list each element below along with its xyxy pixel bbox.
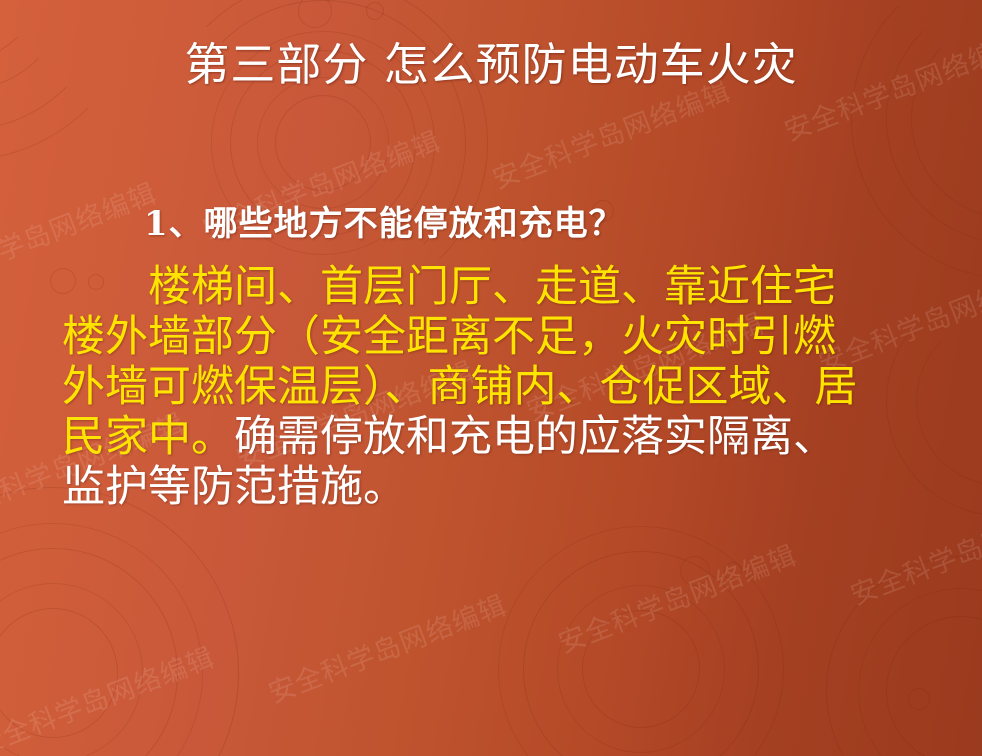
decorative-circle [908, 688, 930, 710]
ring [257, 77, 389, 209]
decorative-ring-cluster-top-center [322, 142, 323, 143]
watermark: 安全科学岛网络编辑 [0, 636, 219, 756]
ring [0, 487, 239, 756]
watermark: 安全科学岛网络编辑 [262, 584, 511, 711]
watermark: 安全科学岛网络编辑 [844, 486, 982, 613]
decorative-ring-cluster-bottom-left [52, 672, 53, 673]
ring [498, 526, 784, 756]
presentation-slide: 安全科学岛网络编辑 安全科学岛网络编辑 安全科学岛网络编辑 安全科学岛网络编辑 … [0, 0, 982, 756]
slide-title: 第三部分 怎么预防电动车火灾 [0, 36, 982, 94]
ring [886, 286, 982, 516]
ring [557, 585, 725, 753]
ring [826, 556, 982, 756]
ring [523, 551, 759, 756]
ring [0, 583, 143, 756]
decorative-circle [724, 562, 742, 580]
ring [0, 523, 203, 756]
ring [0, 548, 178, 756]
question-heading: 1、哪些地方不能停放和充电？ [62, 198, 862, 250]
slide-body: 1、哪些地方不能停放和充电？ 楼梯间、首层门厅、走道、靠近住宅楼外墙部分（安全距… [62, 198, 862, 512]
decorative-circle [298, 0, 332, 28]
decorative-ring-cluster-bottom-center [640, 668, 641, 669]
ring [916, 316, 982, 486]
decorative-circle [680, 556, 710, 586]
ring [858, 588, 982, 756]
decorative-ring-cluster-bottom-right [960, 690, 961, 691]
ring [886, 616, 982, 756]
ring [582, 610, 700, 728]
answer-paragraph: 楼梯间、首层门厅、走道、靠近住宅楼外墙部分（安全距离不足，火灾时引燃外墙可燃保温… [62, 262, 862, 512]
ring [275, 95, 371, 191]
watermark: 安全科学岛网络编辑 [552, 534, 801, 661]
decorative-circle [366, 2, 384, 20]
ring [0, 608, 118, 738]
